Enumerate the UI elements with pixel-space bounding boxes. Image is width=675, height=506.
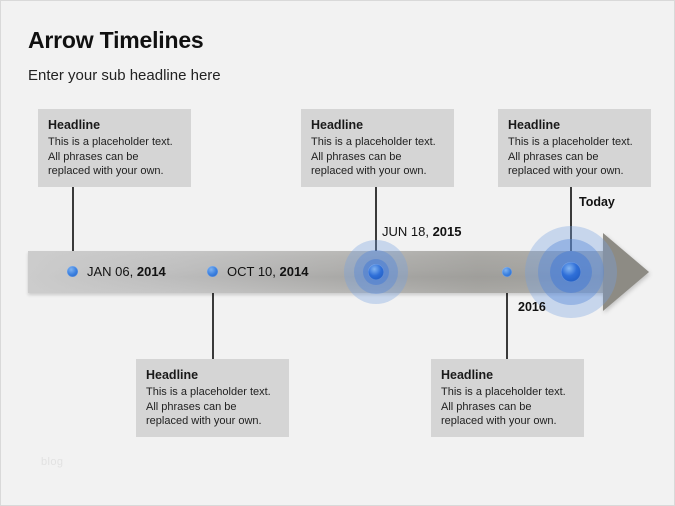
milestone-label-m3: JUN 18, 2015 xyxy=(382,224,462,239)
page-subtitle: Enter your sub headline here xyxy=(28,67,221,84)
milestone-dot-m2[interactable] xyxy=(207,266,218,277)
milestone-label-m5: Today xyxy=(579,195,615,209)
watermark-label: blog xyxy=(41,456,63,468)
callout-bottom-right[interactable]: Headline This is a placeholder text. All… xyxy=(431,359,584,437)
callout-body: This is a placeholder text. All phrases … xyxy=(441,385,574,429)
milestone-dot-m1[interactable] xyxy=(67,266,78,277)
milestone-label-m4: 2016 xyxy=(518,300,546,314)
milestone-year-m1: 2014 xyxy=(137,264,166,279)
slide-canvas: Arrow Timelines Enter your sub headline … xyxy=(0,0,675,506)
callout-top-right[interactable]: Headline This is a placeholder text. All… xyxy=(498,109,651,187)
callout-body: This is a placeholder text. All phrases … xyxy=(48,135,181,179)
milestone-year-m3: 2015 xyxy=(433,224,462,239)
connector-line-top-middle xyxy=(375,187,377,251)
connector-line-top-left xyxy=(72,187,74,251)
milestone-date-m3: JUN 18, xyxy=(382,224,433,239)
callout-headline: Headline xyxy=(48,118,181,133)
connector-line-bottom-left xyxy=(212,293,214,359)
callout-headline: Headline xyxy=(508,118,641,133)
milestone-dot-m5[interactable] xyxy=(561,262,581,282)
callout-top-middle[interactable]: Headline This is a placeholder text. All… xyxy=(301,109,454,187)
callout-headline: Headline xyxy=(441,368,574,383)
connector-line-top-right xyxy=(570,187,572,251)
milestone-label-m1: JAN 06, 2014 xyxy=(87,264,166,279)
milestone-label-m2: OCT 10, 2014 xyxy=(227,264,308,279)
timeline-arrowhead-icon xyxy=(603,233,649,311)
callout-body: This is a placeholder text. All phrases … xyxy=(311,135,444,179)
milestone-dot-m4[interactable] xyxy=(502,267,512,277)
milestone-year-m2: 2014 xyxy=(280,264,309,279)
page-title: Arrow Timelines xyxy=(28,27,204,54)
callout-body: This is a placeholder text. All phrases … xyxy=(146,385,279,429)
callout-bottom-left[interactable]: Headline This is a placeholder text. All… xyxy=(136,359,289,437)
callout-top-left[interactable]: Headline This is a placeholder text. All… xyxy=(38,109,191,187)
callout-body: This is a placeholder text. All phrases … xyxy=(508,135,641,179)
milestone-date-m1: JAN 06, xyxy=(87,264,137,279)
callout-headline: Headline xyxy=(311,118,444,133)
connector-line-bottom-right xyxy=(506,293,508,359)
milestone-dot-m3[interactable] xyxy=(368,264,384,280)
callout-headline: Headline xyxy=(146,368,279,383)
milestone-date-m2: OCT 10, xyxy=(227,264,280,279)
